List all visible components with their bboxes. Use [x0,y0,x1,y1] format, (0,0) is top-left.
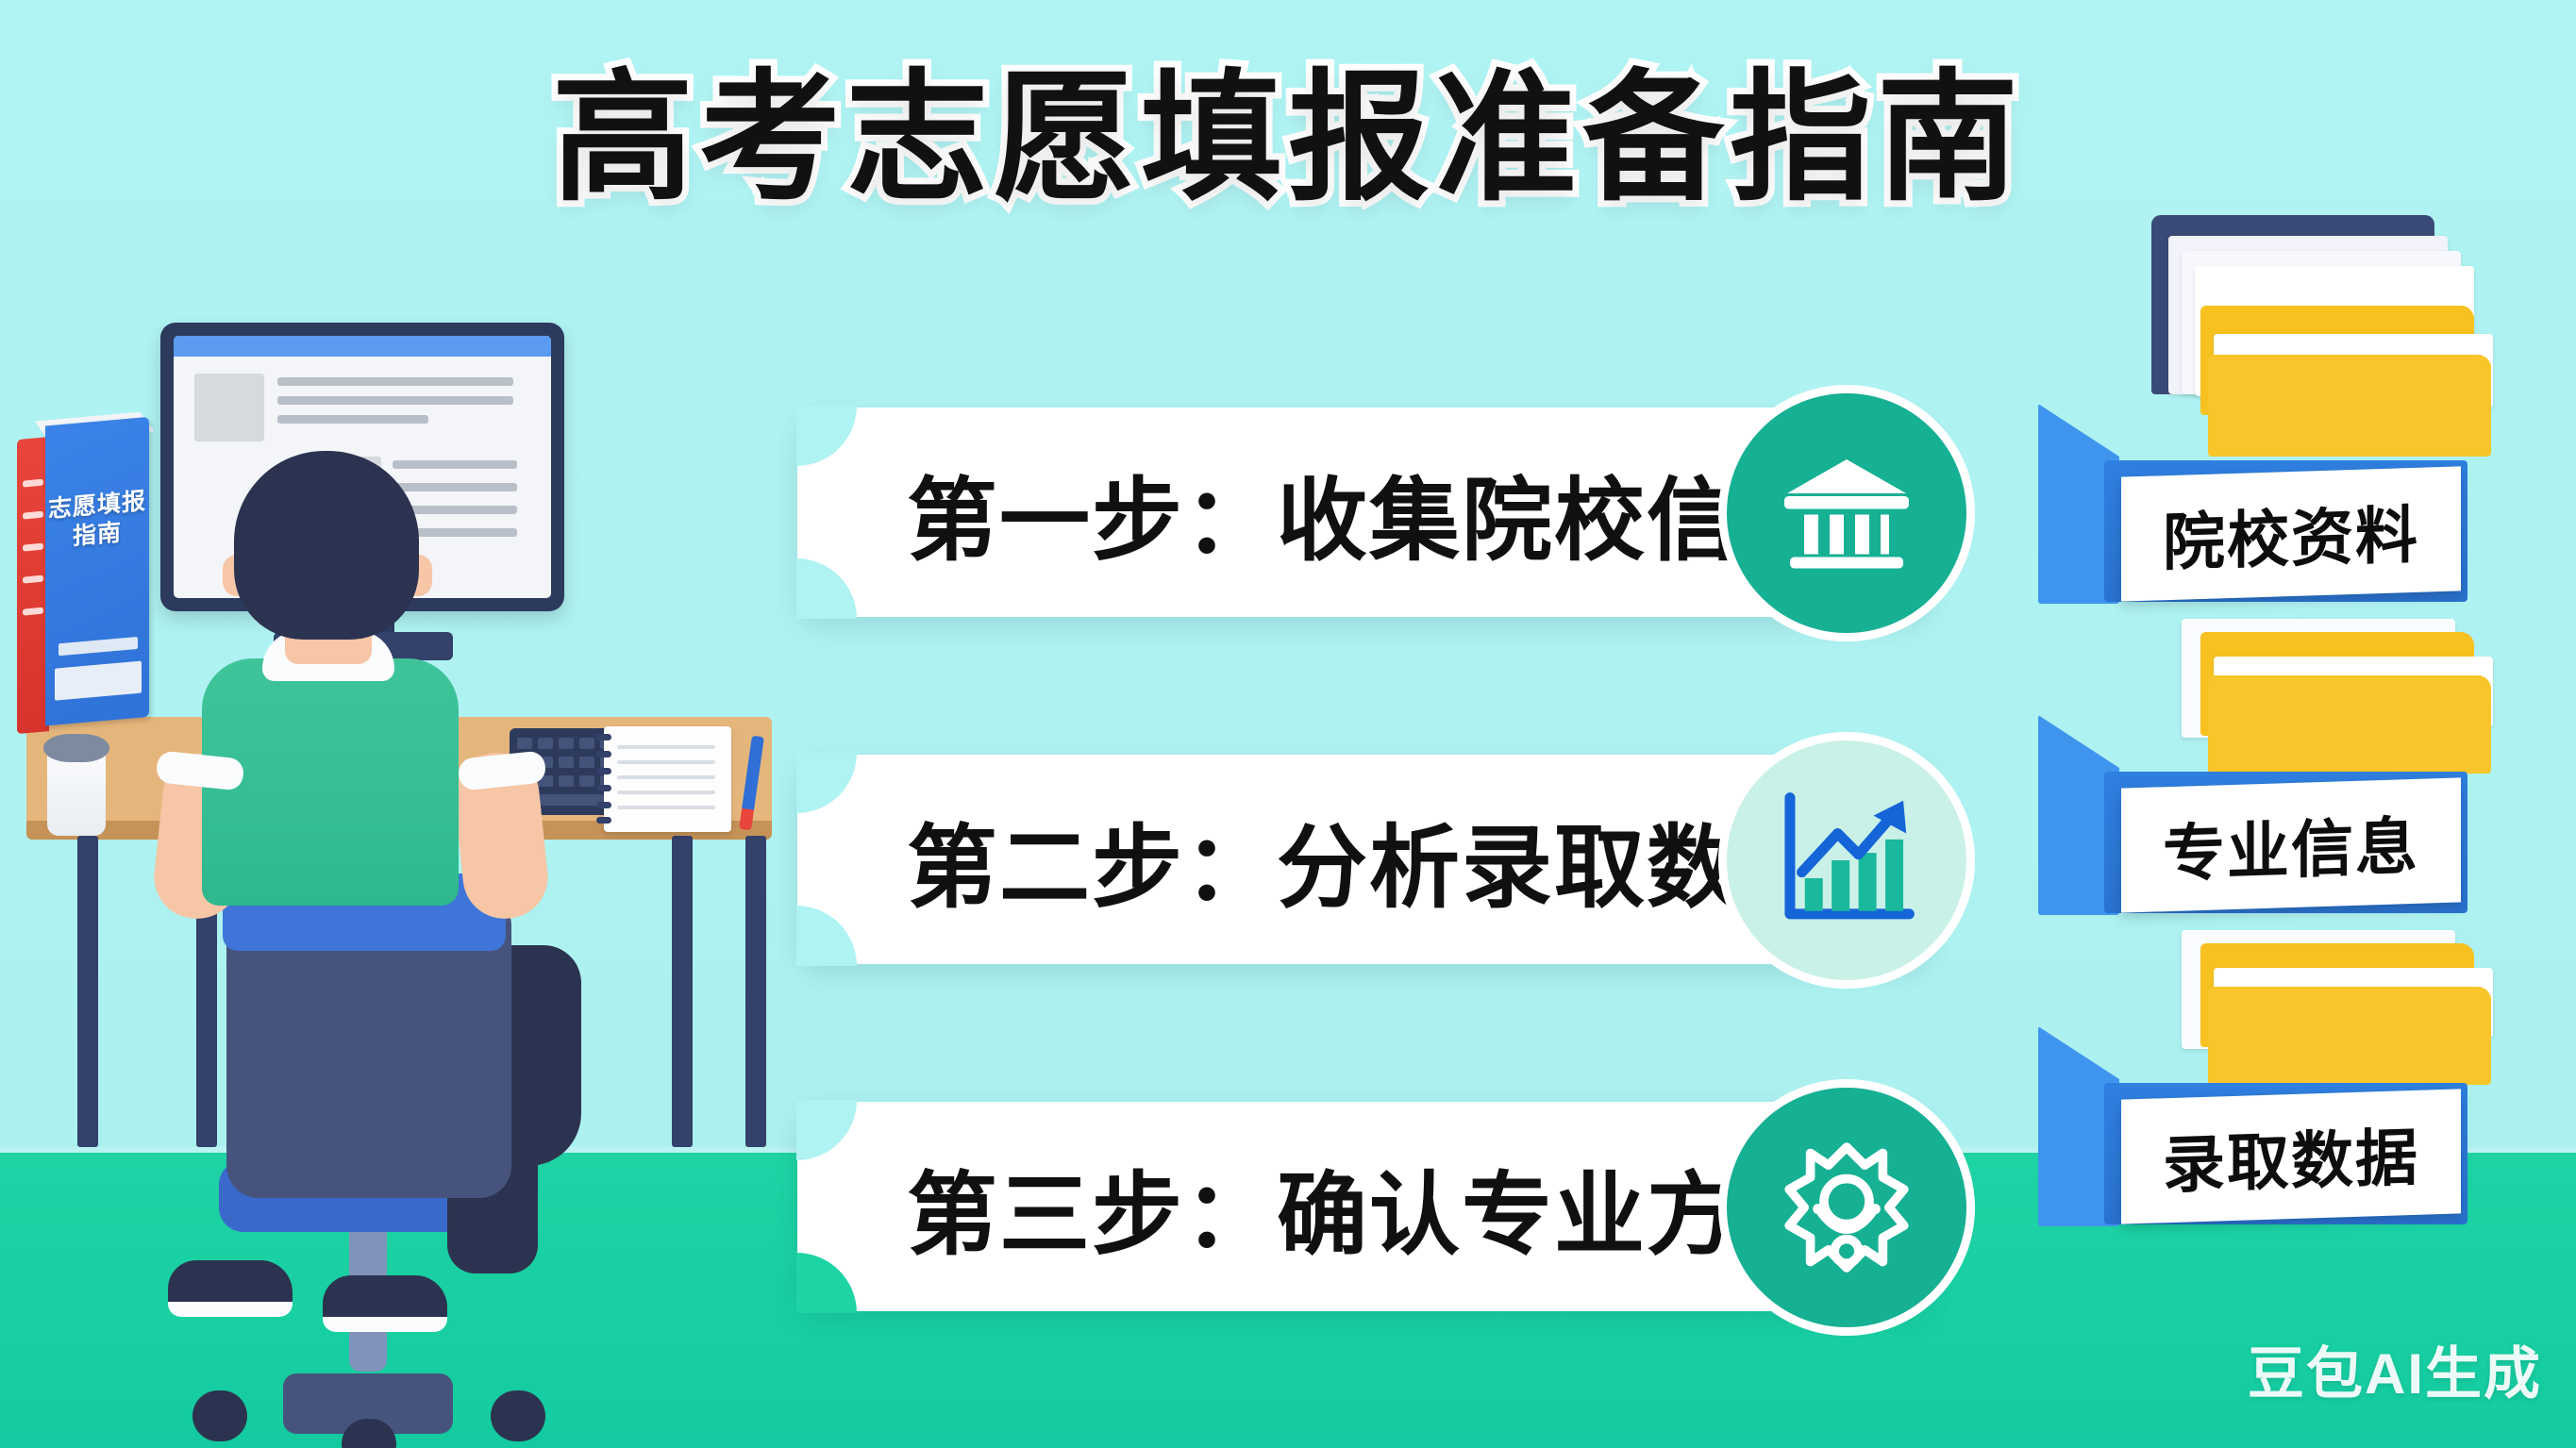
cabinet-tray[interactable]: 院校资料 [2038,349,2467,606]
cabinet-tray[interactable]: 专业信息 [2038,660,2467,917]
book-decor-bar [59,637,138,656]
screen-text-line [277,415,428,424]
shoe-sole [168,1302,293,1317]
screen-text-line [393,460,517,469]
notebook-icon [604,726,731,832]
screen-image-placeholder [194,374,264,441]
step-card-1[interactable]: 第一步：收集院校信息 [797,408,1930,617]
bar-chart-growth-icon [1718,732,1975,989]
guidebook-icon: 志愿填报 指南 [17,411,149,734]
cup-lid [43,734,109,762]
card-notch-bottom [796,1253,857,1313]
book-title-text: 志愿填报 指南 [45,487,149,555]
step-card-2[interactable]: 第二步：分析录取数据 [797,755,1930,964]
book-decor-block [55,661,142,701]
step-2-label: 第二步：分析录取数据 [907,794,1832,925]
step-3-label: 第三步：确认专业方向 [907,1141,1832,1273]
card-notch-top [796,406,857,466]
step-1-label: 第一步：收集院校信息 [907,447,1832,578]
card-notch-bottom [796,906,857,966]
card-notch-bottom [796,558,857,619]
browser-header-bar [174,336,551,357]
screen-text-line [393,483,517,491]
steps-list: 第一步：收集院校信息 第二步：分析录取数据 [797,0,2081,1448]
desk-leg [672,836,693,1147]
shoe-sole [323,1317,447,1332]
tray-label-1: 院校资料 [2121,466,2461,601]
chair-caster [192,1390,247,1441]
screen-text-line [277,377,513,386]
cabinet-tray[interactable]: 录取数据 [2038,972,2467,1228]
tray-label-3: 录取数据 [2121,1089,2461,1223]
desk-leg [745,836,766,1147]
compass-atom-icon [1718,1079,1975,1336]
chair-caster [491,1390,545,1441]
file-cabinet: 院校资料 专业信息 录取数据 [2038,349,2567,1448]
student-desk-illustration: 志愿填报 指南 [0,311,793,1448]
book-title-line1: 志愿填报 [48,488,146,523]
yellow-folder [2208,355,2491,457]
infographic-canvas: 高考志愿填报准备指南 [0,0,2576,1448]
bank-columns-icon [1718,385,1975,641]
person-shoe [168,1260,293,1317]
book-cover: 志愿填报 指南 [45,417,149,726]
step-card-3[interactable]: 第三步：确认专业方向 [797,1102,1930,1311]
desk-leg [77,836,98,1147]
tray-label-2: 专业信息 [2121,777,2461,912]
book-title-line2: 指南 [73,520,122,551]
book-spine [17,437,49,734]
yellow-folder [2208,987,2491,1085]
yellow-folder [2208,675,2491,774]
notebook-spiral [596,726,611,832]
screen-text-line [277,396,513,405]
watermark-text: 豆包AI生成 [2248,1328,2542,1410]
card-notch-top [796,753,857,813]
card-notch-top [796,1100,857,1160]
person-shoe [323,1275,447,1332]
person-head [234,451,419,640]
